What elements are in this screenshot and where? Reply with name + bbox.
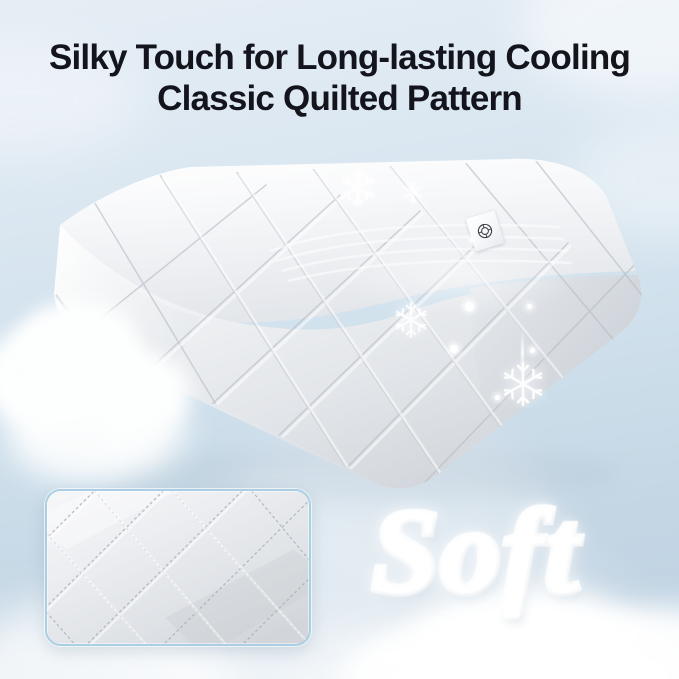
- soft-cloud-word: Soft: [372, 492, 580, 612]
- cotton-tuft-wisp: [96, 392, 186, 468]
- headline-line-2: Classic Quilted Pattern: [0, 79, 679, 120]
- quilting-closeup-inset[interactable]: [45, 489, 311, 646]
- frost-streak: [521, 330, 524, 372]
- sparkle-d: [530, 348, 535, 353]
- headline-line-1: Silky Touch for Long-lasting Cooling: [0, 38, 679, 79]
- sparkle-c: [450, 345, 458, 353]
- marketing-image-canvas: Silky Touch for Long-lasting Cooling Cla…: [0, 0, 679, 679]
- sparkle-e: [495, 395, 500, 400]
- sparkle-f: [470, 238, 474, 242]
- headline-block: Silky Touch for Long-lasting Cooling Cla…: [0, 38, 679, 119]
- sparkle-b: [527, 304, 532, 309]
- pad-specular-glow: [340, 235, 580, 315]
- sparkle-a: [465, 302, 474, 311]
- circular-logo-icon: [473, 219, 498, 244]
